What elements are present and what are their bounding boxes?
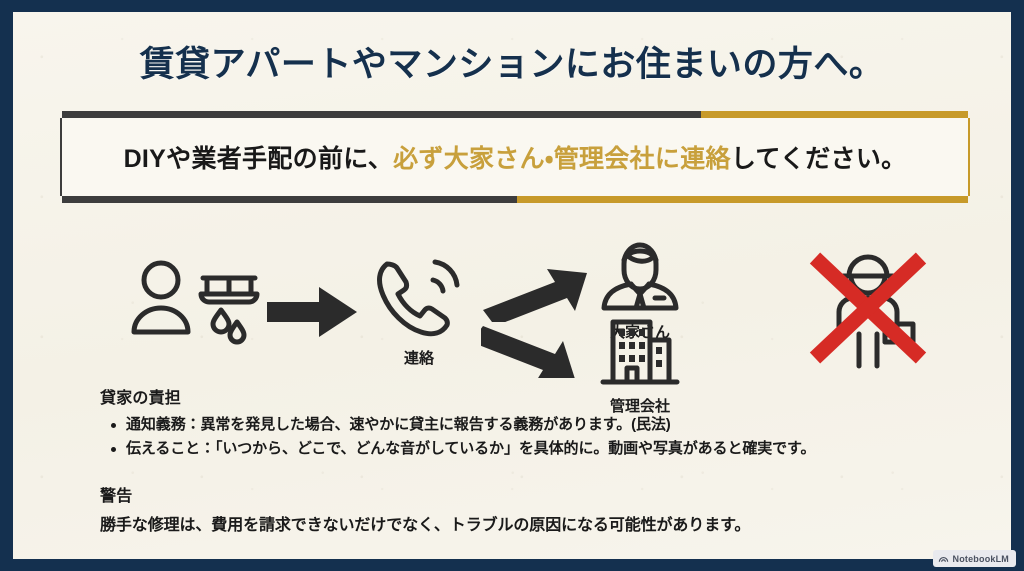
subtitle-lead: DIYや業者手配の前に、	[124, 145, 394, 173]
warning-block: 警告 勝手な修理は、費用を請求できないだけでなく、トラブルの原因になる可能性があ…	[100, 482, 951, 535]
icon-flow-row: 連絡	[13, 244, 1011, 404]
list-item: 通知義務：異常を発見した場合、速やかに貸主に報告する義務があります。(民法)	[104, 413, 951, 437]
body-copy: 貸家の責担 通知義務：異常を発見した場合、速やかに貸主に報告する義務があります。…	[100, 384, 951, 535]
arrow-right-icon	[267, 286, 359, 343]
banner-top-rule	[62, 111, 968, 118]
section-heading-responsibility: 貸家の責担	[100, 384, 951, 408]
slide-canvas: 賃貸アパートやマンションにお住まいの方へ。 DIYや業者手配の前に、必ず大家さん…	[13, 12, 1011, 559]
page-title: 賃貸アパートやマンションにお住まいの方へ。	[13, 36, 1011, 87]
list-item: 伝えること：「いつから、どこで、どんな音がしているか」を具体的に。動画や写真があ…	[104, 437, 951, 461]
banner-bottom-rule-gold	[517, 196, 968, 203]
notebooklm-watermark: NotebookLM	[933, 550, 1017, 567]
notebooklm-logo-icon	[938, 553, 949, 564]
red-cross-icon	[815, 258, 921, 358]
warning-body: 勝手な修理は、費用を請求できないだけでなく、トラブルの原因になる可能性があります…	[100, 511, 951, 535]
banner-top-rule-dark	[62, 111, 701, 118]
warning-heading: 警告	[100, 482, 951, 506]
responsibility-bullet-list: 通知義務：異常を発見した場合、速やかに貸主に報告する義務があります。(民法) 伝…	[104, 413, 951, 462]
arrow-down-right-icon	[481, 320, 591, 383]
phone-call-icon: 連絡	[373, 254, 465, 368]
slide-frame: 賃貸アパートやマンションにお住まいの方へ。 DIYや業者手配の前に、必ず大家さん…	[0, 0, 1024, 571]
subtitle-highlight: 必ず大家さん・管理会社に連絡	[393, 145, 731, 173]
person-with-water-leak-icon	[125, 256, 275, 351]
construction-worker-icon	[803, 246, 933, 379]
arrow-up-right-icon	[481, 266, 591, 327]
subtitle-banner: DIYや業者手配の前に、必ず大家さん・管理会社に連絡してください。	[60, 118, 970, 196]
subtitle-text: DIYや業者手配の前に、必ず大家さん・管理会社に連絡してください。	[62, 139, 968, 175]
phone-call-label: 連絡	[373, 347, 465, 368]
banner-bottom-rule-dark	[62, 196, 517, 203]
notebooklm-watermark-label: NotebookLM	[953, 554, 1010, 564]
banner-bottom-rule	[62, 196, 968, 203]
banner-top-rule-gold	[701, 111, 968, 118]
subtitle-tail: してください。	[731, 145, 907, 173]
